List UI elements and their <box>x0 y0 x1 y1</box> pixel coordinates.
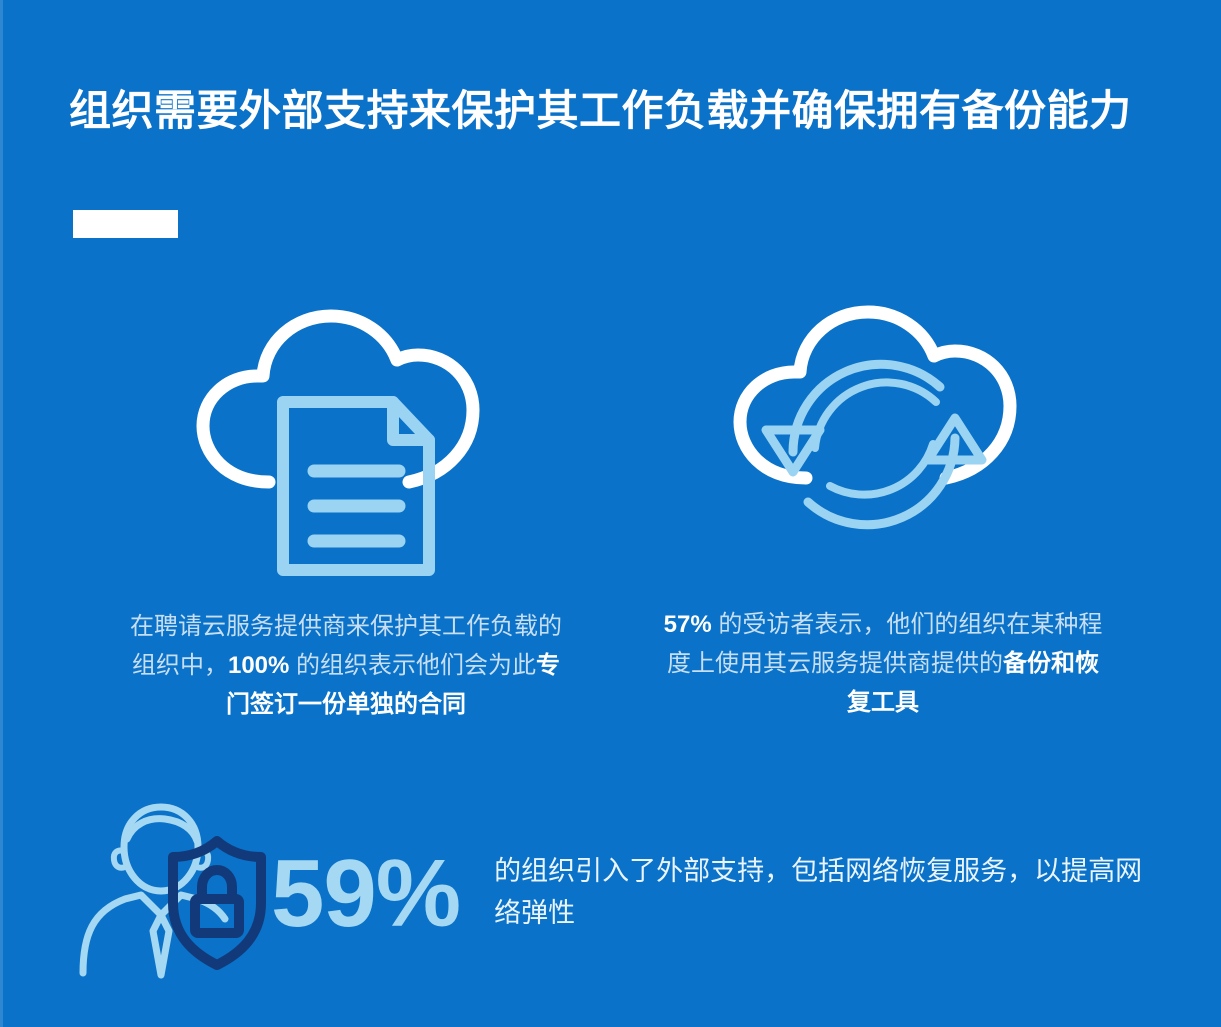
caption-right-part-0: 57% <box>664 611 712 638</box>
person-shield-lock-icon-svg <box>69 795 269 980</box>
page-title: 组织需要外部支持来保护其工作负载并确保拥有备份能力 <box>69 86 1169 136</box>
bottom-stat-description: 的组织引入了外部支持，包括网络恢复服务，以提高网络弹性 <box>494 851 1159 935</box>
cloud-sync-icon <box>653 280 1113 570</box>
bottom-stat-value: 59% <box>271 846 460 942</box>
infographic-slide: 组织需要外部支持来保护其工作负载并确保拥有备份能力 在聘请云服务提供商来保护其工… <box>0 0 1221 1027</box>
title-divider-rule <box>73 210 178 238</box>
caption-left-part-2: 的组织表示他们会为此 <box>289 652 536 679</box>
caption-left: 在聘请云服务提供商来保护其工作负载的组织中，100% 的组织表示他们会为此专门签… <box>116 608 576 725</box>
caption-left-part-1: 100% <box>228 652 289 679</box>
cloud-document-icon-svg <box>181 280 511 580</box>
column-right: 57% 的受访者表示，他们的组织在某种程度上使用其云服务提供商提供的备份和恢复工… <box>653 280 1113 723</box>
cloud-sync-icon-svg <box>718 280 1048 570</box>
caption-right: 57% 的受访者表示，他们的组织在某种程度上使用其云服务提供商提供的备份和恢复工… <box>653 606 1113 723</box>
person-shield-lock-icon <box>69 795 269 980</box>
cloud-document-icon <box>116 280 576 580</box>
column-left: 在聘请云服务提供商来保护其工作负载的组织中，100% 的组织表示他们会为此专门签… <box>116 280 576 725</box>
bottom-stat-row: 59% 的组织引入了外部支持，包括网络恢复服务，以提高网络弹性 <box>69 795 1159 980</box>
